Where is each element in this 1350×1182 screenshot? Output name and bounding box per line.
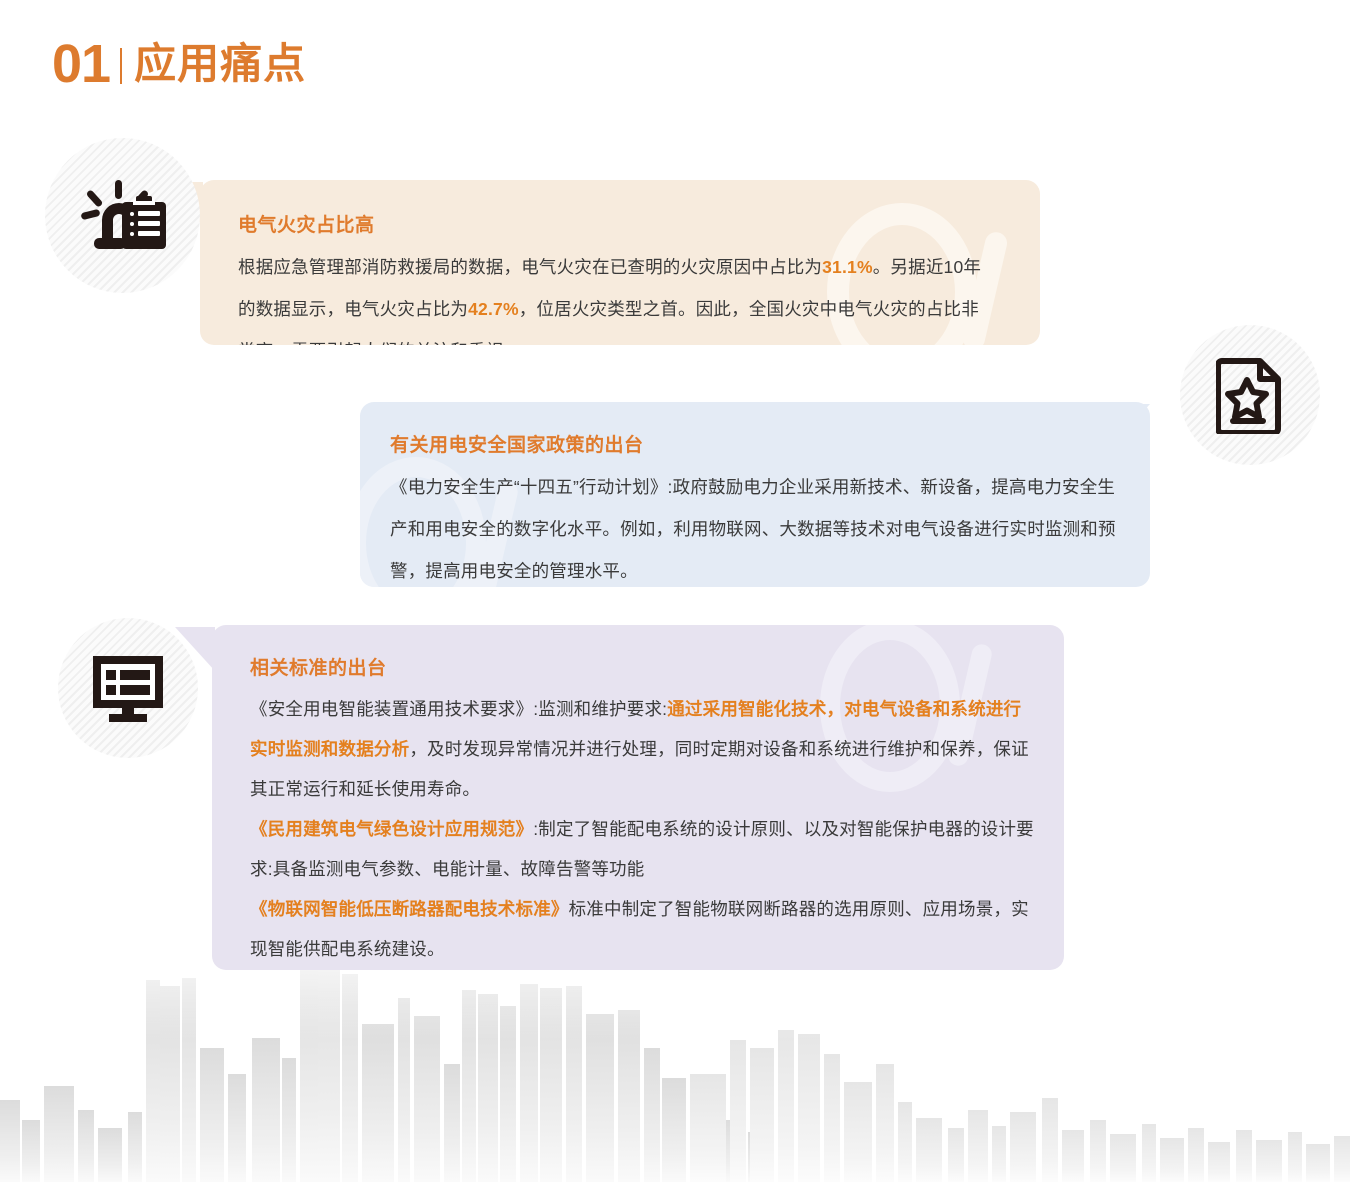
card-title: 相关标准的出台 bbox=[250, 653, 1038, 680]
card-body: 《电力安全生产“十四五”行动计划》:政府鼓励电力企业采用新技术、新设备，提高电力… bbox=[390, 466, 1120, 587]
section-header: 01 应用痛点 bbox=[52, 33, 306, 95]
header-divider bbox=[120, 48, 122, 84]
card-title: 有关用电安全国家政策的出台 bbox=[390, 430, 1120, 457]
alarm-clipboard-icon bbox=[80, 176, 166, 256]
monitor-list-icon bbox=[90, 653, 166, 723]
certificate-star-icon-circle bbox=[1180, 325, 1320, 465]
alarm-clipboard-icon-circle bbox=[45, 138, 200, 293]
section-number: 01 bbox=[52, 36, 110, 92]
card-fire-ratio: 电气火灾占比高 根据应急管理部消防救援局的数据，电气火灾在已查明的火灾原因中占比… bbox=[200, 180, 1040, 345]
certificate-star-icon bbox=[1216, 356, 1284, 434]
card-related-standards: 相关标准的出台 《安全用电智能装置通用技术要求》:监测和维护要求:通过采用智能化… bbox=[212, 625, 1064, 970]
monitor-list-icon-circle bbox=[58, 618, 198, 758]
card-title: 电气火灾占比高 bbox=[238, 210, 994, 237]
card-body: 《安全用电智能装置通用技术要求》:监测和维护要求:通过采用智能化技术，对电气设备… bbox=[250, 689, 1038, 969]
infographic-page: 01 应用痛点 bbox=[0, 0, 1350, 1182]
card-national-policy: 有关用电安全国家政策的出台 《电力安全生产“十四五”行动计划》:政府鼓励电力企业… bbox=[360, 402, 1150, 587]
city-skyline-watermark bbox=[0, 952, 1350, 1182]
card-body: 根据应急管理部消防救援局的数据，电气火灾在已查明的火灾原因中占比为31.1%。另… bbox=[238, 246, 994, 345]
page-title: 应用痛点 bbox=[134, 40, 306, 88]
